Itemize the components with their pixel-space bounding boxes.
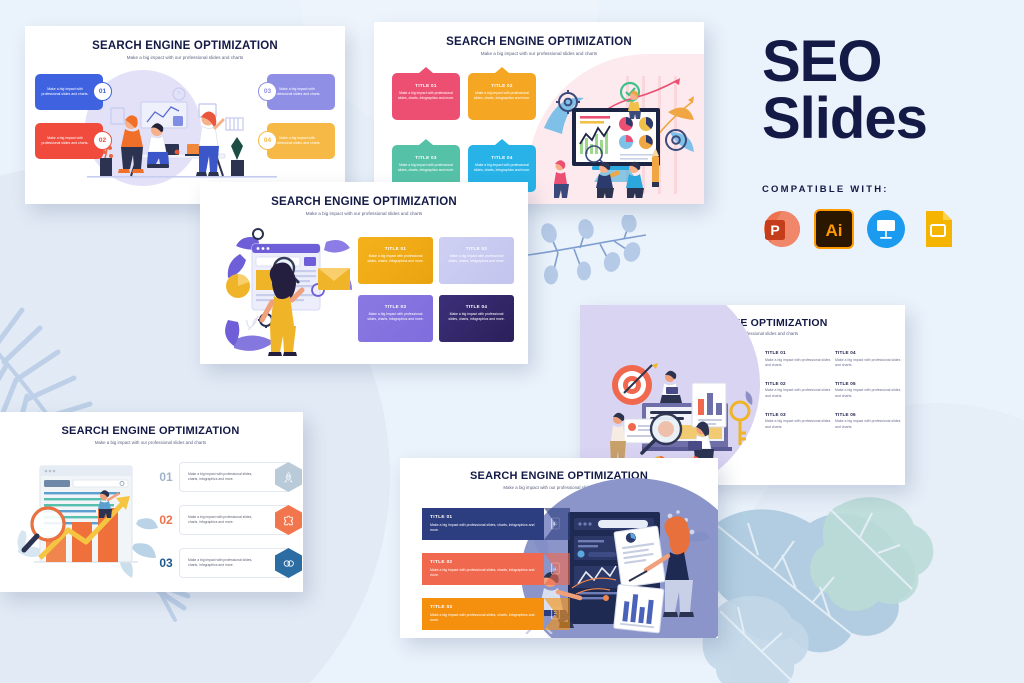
slide-four-badges-office[interactable]: SEARCH ENGINE OPTIMIZATION Make a big im… (25, 26, 345, 204)
page-subtitle: Make a big impact with our professional … (0, 441, 303, 446)
pin-card-01[interactable]: TITLE 01 Make a big impact with professi… (392, 73, 460, 120)
text-item-01-title: TITLE 01 (765, 350, 835, 355)
gradient-card-03-text: Make a big impact with professional slid… (358, 312, 433, 322)
badge-02[interactable]: Make a big impact with professional slid… (35, 123, 103, 159)
slide-four-gradient-cards-search[interactable]: SEARCH ENGINE OPTIMIZATION Make a big im… (200, 182, 528, 364)
gradient-card-02[interactable]: TITLE 02 Make a big impact with professi… (439, 237, 514, 284)
badge-02-text: Make a big impact with professional slid… (41, 136, 89, 146)
text-item-02-title: TITLE 02 (765, 381, 835, 386)
slide-four-pin-cards-dashboard[interactable]: SEARCH ENGINE OPTIMIZATION Make a big im… (374, 22, 704, 204)
brand-title-line1: SEO (762, 29, 882, 94)
badge-01-text: Make a big impact with professional slid… (41, 87, 89, 97)
arrow-bar-02-text: Make a big impact with professional slid… (430, 568, 535, 579)
page-title: SEARCH ENGINE OPTIMIZATION (25, 40, 345, 52)
row-01-box: Make a big impact with professional slid… (179, 462, 290, 492)
badge-01-number: 01 (93, 82, 112, 101)
text-item-04-title: TITLE 04 (835, 350, 905, 355)
text-item-03[interactable]: TITLE 03 Make a big impact with professi… (765, 412, 835, 430)
text-item-01-text: Make a big impact with professional slid… (765, 358, 835, 369)
compatible-with-label: COMPATIBLE WITH: (762, 184, 1012, 195)
page-title: SEARCH ENGINE OPTIMIZATION (400, 471, 718, 483)
text-column-right: TITLE 04 Make a big impact with professi… (835, 350, 905, 443)
badge-03[interactable]: Make a big impact with professional slid… (267, 74, 335, 110)
page-title: SEARCH ENGINE OPTIMIZATION (374, 36, 704, 48)
badge-04-number: 04 (258, 131, 277, 150)
row-03-number: 03 (153, 556, 179, 570)
gradient-card-04[interactable]: TITLE 04 Make a big impact with professi… (439, 295, 514, 342)
row-02-number: 02 (153, 513, 179, 527)
pin-card-03-text: Make a big impact with professional slid… (392, 163, 460, 173)
text-item-06[interactable]: TITLE 06 Make a big impact with professi… (835, 412, 905, 430)
illustrator-icon[interactable]: Ai (814, 209, 854, 249)
text-item-02[interactable]: TITLE 02 Make a big impact with professi… (765, 381, 835, 399)
pin-card-02[interactable]: TITLE 02 Make a big impact with professi… (468, 73, 536, 120)
arrow-bar-01-text: Make a big impact with professional slid… (430, 523, 535, 534)
gradient-card-01[interactable]: TITLE 01 Make a big impact with professi… (358, 237, 433, 284)
gradient-card-04-title: TITLE 04 (439, 304, 514, 309)
text-item-04-text: Make a big impact with professional slid… (835, 358, 905, 369)
arrow-bar-02[interactable]: TITLE 02 Make a big impact with professi… (422, 553, 544, 585)
badge-04[interactable]: Make a big impact with professional slid… (267, 123, 335, 159)
text-item-05-title: TITLE 05 (835, 381, 905, 386)
arrow-bar-01[interactable]: TITLE 01 Make a big impact with professi… (422, 508, 544, 540)
text-item-01[interactable]: TITLE 01 Make a big impact with professi… (765, 350, 835, 368)
brand-title: SEO Slides (762, 34, 1012, 148)
mobile-doc-icon (549, 606, 562, 621)
gradient-card-03-title: TITLE 03 (358, 304, 433, 309)
text-item-05[interactable]: TITLE 05 Make a big impact with professi… (835, 381, 905, 399)
text-item-05-text: Make a big impact with professional slid… (835, 388, 905, 399)
rocket-icon (275, 462, 302, 492)
badge-03-text: Make a big impact with professional slid… (273, 87, 321, 97)
link-icon (275, 548, 302, 578)
brand-panel: SEO Slides COMPATIBLE WITH: P Ai (762, 34, 1012, 249)
page-title: SEARCH ENGINE OPTIMIZATION (0, 426, 303, 438)
numbered-row-01[interactable]: 01 Make a big impact with professional s… (153, 462, 290, 492)
pin-card-02-text: Make a big impact with professional slid… (468, 91, 536, 101)
mobile-gear-icon (549, 516, 562, 531)
text-column-left: TITLE 01 Make a big impact with professi… (765, 350, 835, 443)
keynote-icon[interactable] (866, 209, 906, 249)
page-subtitle: Make a big impact with our professional … (25, 55, 345, 60)
pin-card-04-text: Make a big impact with professional slid… (468, 163, 536, 173)
text-item-03-text: Make a big impact with professional slid… (765, 419, 835, 430)
powerpoint-icon[interactable]: P (762, 209, 802, 249)
bar-chart-search-illustration (16, 458, 158, 580)
arrow-bar-01-title: TITLE 01 (430, 515, 544, 520)
row-03-text: Make a big impact with professional slid… (188, 558, 260, 568)
puzzle-icon (275, 505, 302, 535)
slide-three-numbered-rows-barchart[interactable]: SEARCH ENGINE OPTIMIZATION Make a big im… (0, 412, 303, 592)
pin-card-01-text: Make a big impact with professional slid… (392, 91, 460, 101)
row-01-number: 01 (153, 470, 179, 484)
numbered-row-02[interactable]: 02 Make a big impact with professional s… (153, 505, 290, 535)
svg-text:P: P (770, 222, 779, 238)
text-item-06-title: TITLE 06 (835, 412, 905, 417)
text-item-02-text: Make a big impact with professional slid… (765, 388, 835, 399)
badge-02-number: 02 (93, 131, 112, 150)
gradient-card-03[interactable]: TITLE 03 Make a big impact with professi… (358, 295, 433, 342)
slide-three-arrow-bars-presentation[interactable]: SEARCH ENGINE OPTIMIZATION Make a big im… (400, 458, 718, 638)
badge-04-text: Make a big impact with professional slid… (273, 136, 321, 146)
text-item-04[interactable]: TITLE 04 Make a big impact with professi… (835, 350, 905, 368)
compatible-apps-list: P Ai (762, 209, 1012, 249)
mobile-chart-icon (549, 561, 562, 576)
row-02-box: Make a big impact with professional slid… (179, 505, 290, 535)
text-item-06-text: Make a big impact with professional slid… (835, 419, 905, 430)
gradient-card-02-title: TITLE 02 (439, 246, 514, 251)
pin-card-01-title: TITLE 01 (392, 83, 460, 88)
row-03-box: Make a big impact with professional slid… (179, 548, 290, 578)
page-title: SEARCH ENGINE OPTIMIZATION (200, 196, 528, 208)
gradient-card-02-text: Make a big impact with professional slid… (439, 254, 514, 264)
svg-text:Ai: Ai (826, 221, 843, 240)
brand-title-line2: Slides (762, 91, 1012, 148)
arrow-bar-02-title: TITLE 02 (430, 560, 544, 565)
oak-leaf-decoration (700, 493, 950, 683)
analytics-dashboard-illustration (530, 70, 698, 198)
row-02-text: Make a big impact with professional slid… (188, 515, 260, 525)
pin-card-03-title: TITLE 03 (392, 155, 460, 160)
badge-03-number: 03 (258, 82, 277, 101)
office-team-illustration (87, 86, 277, 190)
branch-decoration (528, 215, 653, 295)
pin-card-04-title: TITLE 04 (468, 155, 536, 160)
badge-01[interactable]: Make a big impact with professional slid… (35, 74, 103, 110)
target-analytics-illustration (604, 347, 764, 473)
google-slides-icon[interactable] (918, 209, 958, 249)
numbered-row-03[interactable]: 03 Make a big impact with professional s… (153, 548, 290, 578)
arrow-bar-03[interactable]: TITLE 03 Make a big impact with professi… (422, 598, 544, 630)
text-item-03-title: TITLE 03 (765, 412, 835, 417)
gradient-card-01-title: TITLE 01 (358, 246, 433, 251)
row-01-text: Make a big impact with professional slid… (188, 472, 260, 482)
arrow-bar-03-title: TITLE 03 (430, 605, 544, 610)
gradient-card-04-text: Make a big impact with professional slid… (439, 312, 514, 322)
seo-search-illustration (222, 224, 354, 358)
gradient-card-01-text: Make a big impact with professional slid… (358, 254, 433, 264)
page-subtitle: Make a big impact with our professional … (200, 211, 528, 216)
pin-card-02-title: TITLE 02 (468, 83, 536, 88)
arrow-bar-03-text: Make a big impact with professional slid… (430, 613, 535, 624)
